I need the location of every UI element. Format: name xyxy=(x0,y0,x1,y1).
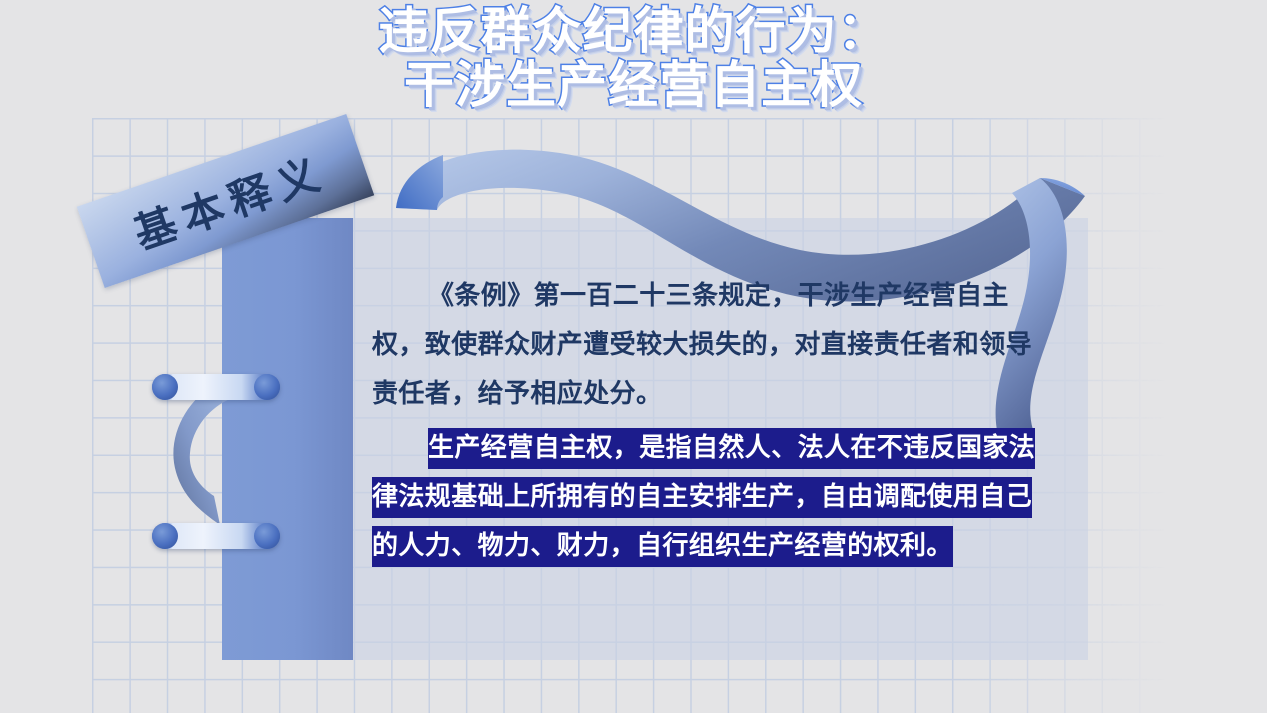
page-title-line-2: 干涉生产经营自主权 xyxy=(0,58,1267,112)
content-panel-accent-bar xyxy=(222,218,353,660)
paragraph-definition: 生产经营自主权，是指自然人、法人在不违反国家法律法规基础上所拥有的自主安排生产，… xyxy=(372,424,1048,571)
slide-canvas: 违反群众纪律的行为： 干涉生产经营自主权 xyxy=(0,0,1267,713)
binder-ring-bottom xyxy=(152,523,280,549)
page-title: 违反群众纪律的行为： 干涉生产经营自主权 xyxy=(0,4,1267,112)
paragraph-regulation-citation-text: 《条例》第一百二十三条规定，干涉生产经营自主权，致使群众财产遭受较大损失的，对直… xyxy=(372,281,1032,409)
page-title-line-1: 违反群众纪律的行为： xyxy=(0,4,1267,58)
body-text-block: 《条例》第一百二十三条规定，干涉生产经营自主权，致使群众财产遭受较大损失的，对直… xyxy=(372,272,1048,571)
binder-ring-top xyxy=(152,374,280,400)
paragraph-regulation-citation: 《条例》第一百二十三条规定，干涉生产经营自主权，致使群众财产遭受较大损失的，对直… xyxy=(372,272,1048,419)
paragraph-definition-text: 生产经营自主权，是指自然人、法人在不违反国家法律法规基础上所拥有的自主安排生产，… xyxy=(372,428,1035,567)
